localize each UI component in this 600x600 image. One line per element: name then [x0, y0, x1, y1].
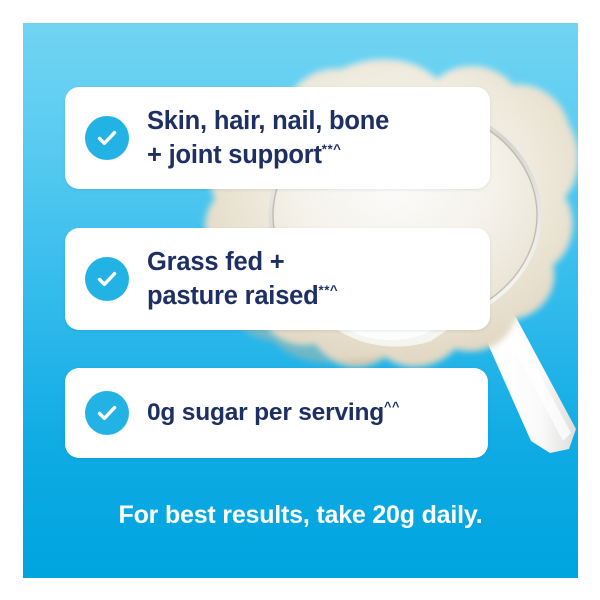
- feature-card-2-text: Grass fed + pasture raised: [147, 248, 319, 310]
- feature-card-3-label: 0g sugar per serving^^: [147, 397, 400, 430]
- feature-card-2-superscript: **^: [319, 283, 339, 298]
- product-feature-graphic: Skin, hair, nail, bone + joint support**…: [0, 0, 600, 600]
- feature-card-2-label: Grass fed + pasture raised**^: [147, 245, 338, 313]
- check-circle-icon: [85, 391, 129, 435]
- feature-card-2: Grass fed + pasture raised**^: [65, 228, 490, 330]
- feature-card-3: 0g sugar per serving^^: [65, 368, 488, 458]
- check-circle-icon: [85, 257, 129, 301]
- blue-gradient-panel: Skin, hair, nail, bone + joint support**…: [23, 23, 578, 578]
- feature-card-3-superscript: ^^: [384, 398, 400, 413]
- feature-card-1: Skin, hair, nail, bone + joint support**…: [65, 87, 490, 189]
- usage-instruction-text: For best results, take 20g daily.: [23, 501, 578, 530]
- check-circle-icon: [85, 116, 129, 160]
- feature-card-1-label: Skin, hair, nail, bone + joint support**…: [147, 104, 389, 172]
- feature-card-3-text: 0g sugar per serving: [147, 399, 384, 426]
- feature-card-1-text: Skin, hair, nail, bone + joint support: [147, 107, 389, 169]
- feature-card-1-superscript: **^: [322, 142, 342, 157]
